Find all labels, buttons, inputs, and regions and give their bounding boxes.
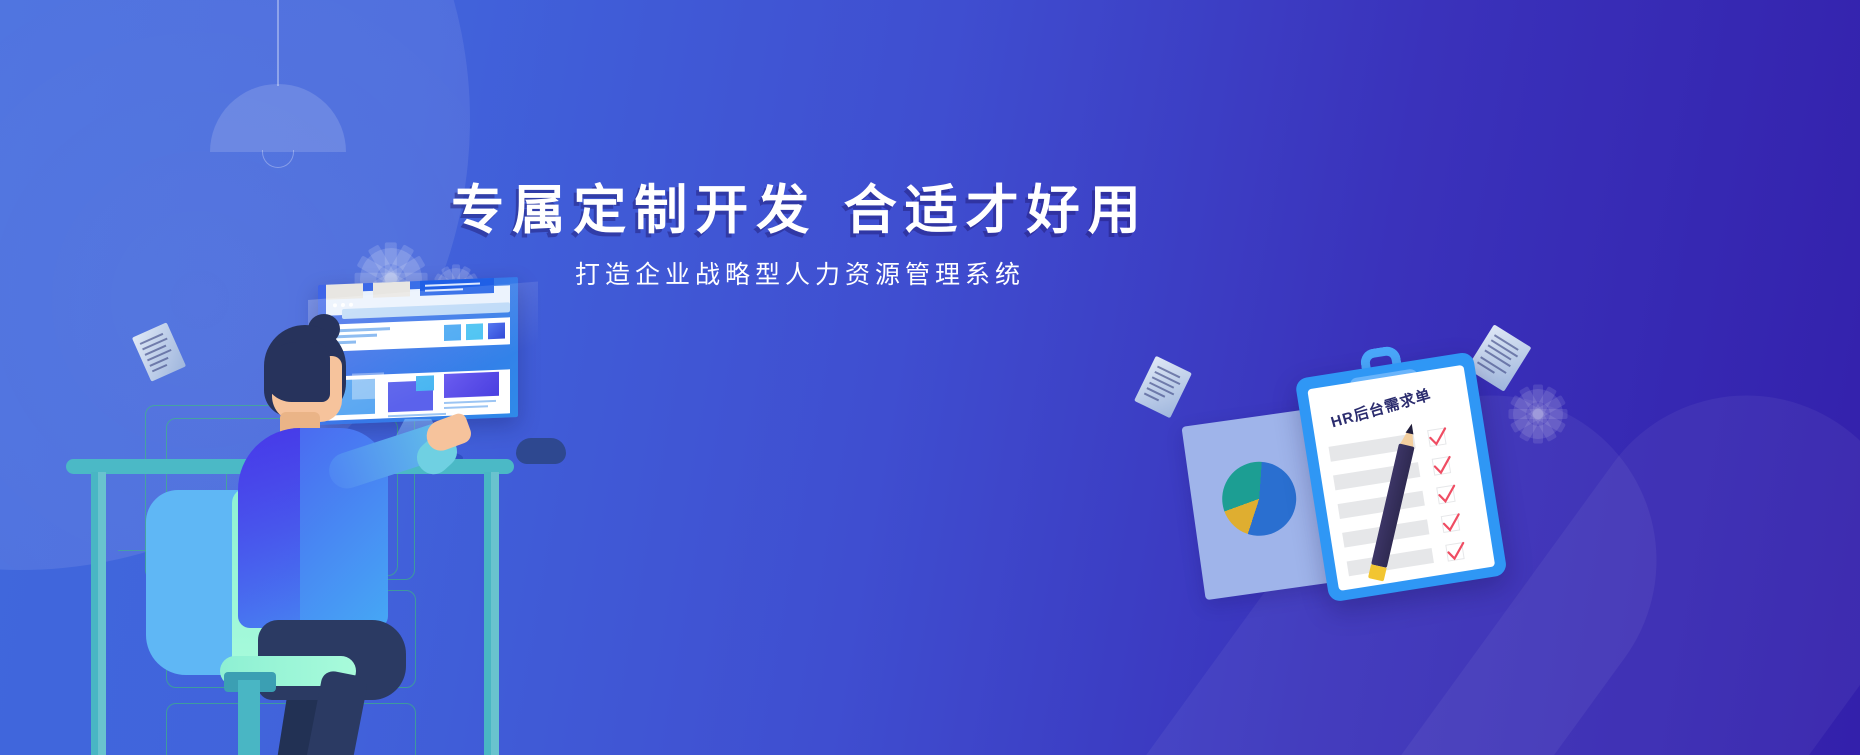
desk-leg-left — [91, 472, 106, 755]
checkbox-icon — [1441, 514, 1460, 533]
checklist-item — [1347, 541, 1482, 577]
person-illustration — [180, 320, 500, 755]
browser-address-bar — [342, 302, 510, 319]
chair-pole — [238, 680, 260, 755]
lamp-dome — [210, 84, 346, 152]
person-hair-front — [264, 342, 330, 402]
clipboard-title: HR后台需求单 — [1328, 378, 1453, 432]
checkbox-icon — [1432, 456, 1451, 475]
document-icon — [1134, 356, 1192, 418]
hanging-lamp-icon — [210, 0, 346, 180]
person-torso-shadow — [238, 428, 300, 628]
lamp-bulb — [262, 150, 294, 168]
checkbox-icon — [1427, 428, 1446, 447]
gear-icon — [1513, 389, 1563, 439]
checkbox-icon — [1436, 485, 1455, 504]
hero-banner: HR后台需求单 — [0, 0, 1860, 755]
clipboard-illustration: HR后台需求单 — [1292, 337, 1507, 602]
clipboard-paper: HR后台需求单 — [1307, 365, 1495, 591]
mouse-icon — [516, 438, 566, 464]
lamp-cord — [277, 0, 279, 86]
checkbox-icon — [1445, 542, 1464, 561]
pie-chart-icon — [1217, 457, 1301, 541]
